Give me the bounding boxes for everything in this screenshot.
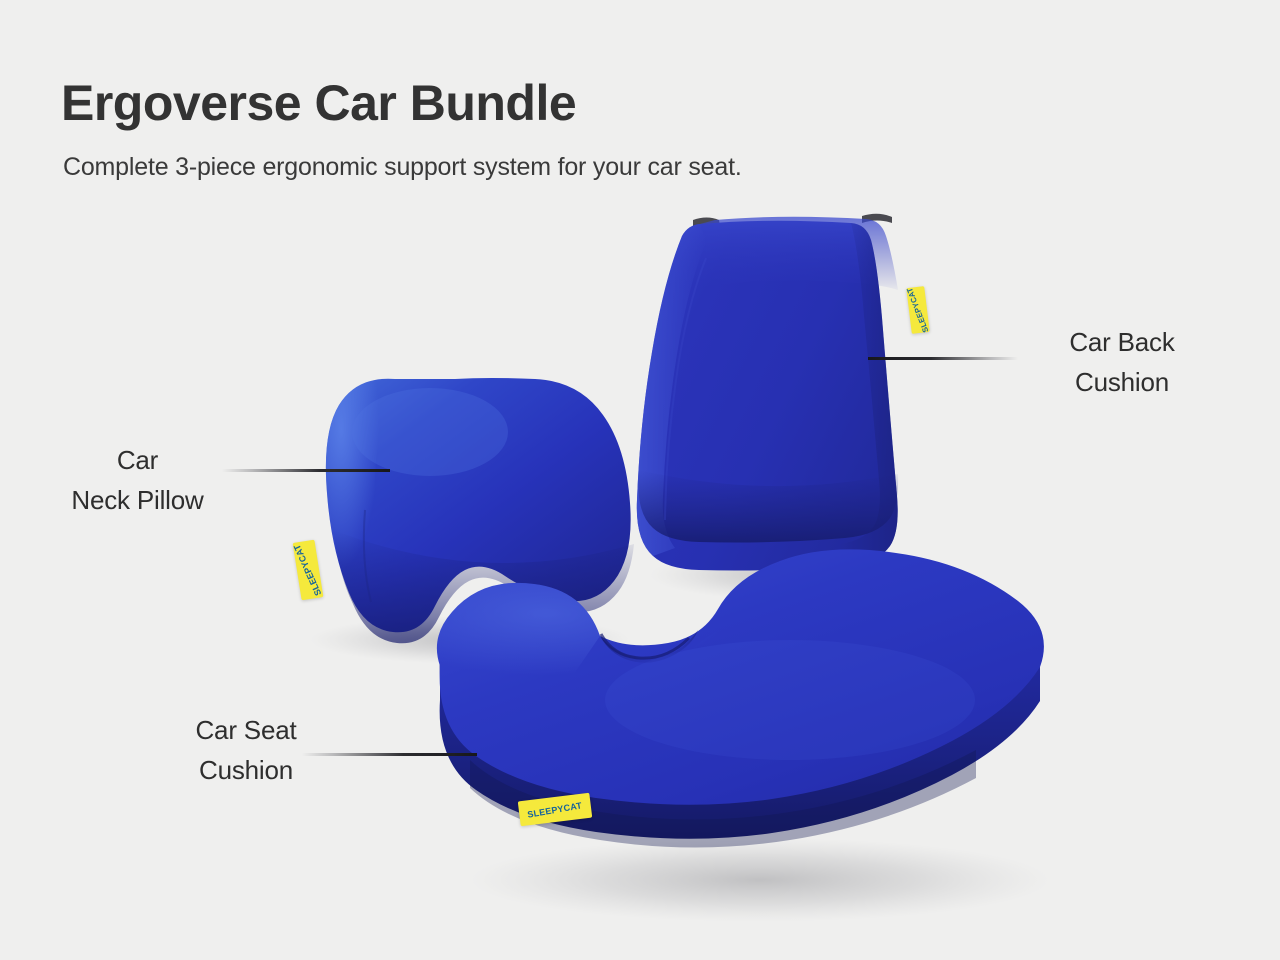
neck-pillow-gloss (352, 388, 508, 476)
brand-tag-text: SLEEPYCAT (527, 800, 583, 819)
leader-line-back-cushion (868, 357, 1018, 360)
label-car-back-cushion: Car Back Cushion (1022, 322, 1222, 402)
product-car-back-cushion (637, 214, 898, 571)
label-car-seat-cushion: Car Seat Cushion (140, 710, 352, 790)
product-bundle-hero: Ergoverse Car Bundle Complete 3-piece er… (0, 0, 1280, 960)
shadow-seat-cushion (470, 838, 1050, 922)
label-car-neck-pillow: Car Neck Pillow (35, 440, 240, 520)
leader-line-neck-pillow (222, 469, 390, 472)
